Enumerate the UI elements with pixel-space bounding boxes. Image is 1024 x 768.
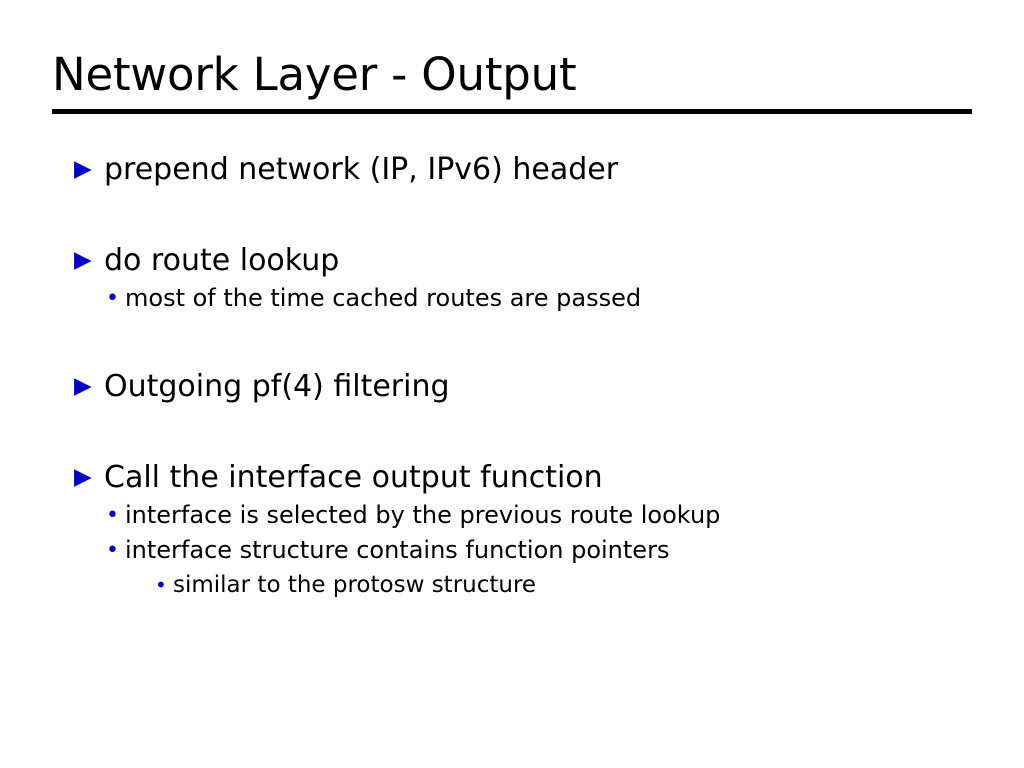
outline-group: ▶ prepend network (IP, IPv6) header [0, 150, 1024, 190]
triangle-bullet-icon: ▶ [72, 241, 104, 281]
outline-group: ▶ do route lookup • most of the time cac… [0, 241, 1024, 316]
list-item: • most of the time cached routes are pas… [0, 281, 1024, 316]
list-item-label: interface is selected by the previous ro… [125, 498, 720, 533]
title-block: Network Layer - Output [52, 50, 972, 114]
list-item: • interface is selected by the previous … [0, 498, 1024, 533]
title-divider [52, 109, 972, 114]
list-item-label: similar to the protosw structure [173, 568, 536, 602]
triangle-bullet-icon: ▶ [72, 150, 104, 190]
list-item: ▶ Outgoing pf(4) filtering [0, 367, 1024, 407]
triangle-bullet-icon: ▶ [72, 367, 104, 407]
list-item: • similar to the protosw structure [0, 568, 1024, 602]
list-item: ▶ Call the interface output function [0, 458, 1024, 498]
list-item-label: most of the time cached routes are passe… [125, 281, 641, 316]
dot-bullet-icon: • [155, 568, 173, 602]
dot-bullet-icon: • [106, 281, 125, 316]
outline-body: ▶ prepend network (IP, IPv6) header ▶ do… [0, 150, 1024, 602]
triangle-bullet-icon: ▶ [72, 458, 104, 498]
list-item: ▶ do route lookup [0, 241, 1024, 281]
dot-bullet-icon: • [106, 498, 125, 533]
outline-group: ▶ Outgoing pf(4) filtering [0, 367, 1024, 407]
list-item-label: Call the interface output function [104, 458, 603, 498]
list-item-label: prepend network (IP, IPv6) header [104, 150, 618, 190]
list-item-label: interface structure contains function po… [125, 533, 669, 568]
list-item: ▶ prepend network (IP, IPv6) header [0, 150, 1024, 190]
page-title: Network Layer - Output [52, 50, 972, 100]
slide-canvas: Network Layer - Output ▶ prepend network… [0, 0, 1024, 768]
list-item-label: Outgoing pf(4) filtering [104, 367, 450, 407]
dot-bullet-icon: • [106, 533, 125, 568]
list-item: • interface structure contains function … [0, 533, 1024, 568]
list-item-label: do route lookup [104, 241, 339, 281]
outline-group: ▶ Call the interface output function • i… [0, 458, 1024, 602]
